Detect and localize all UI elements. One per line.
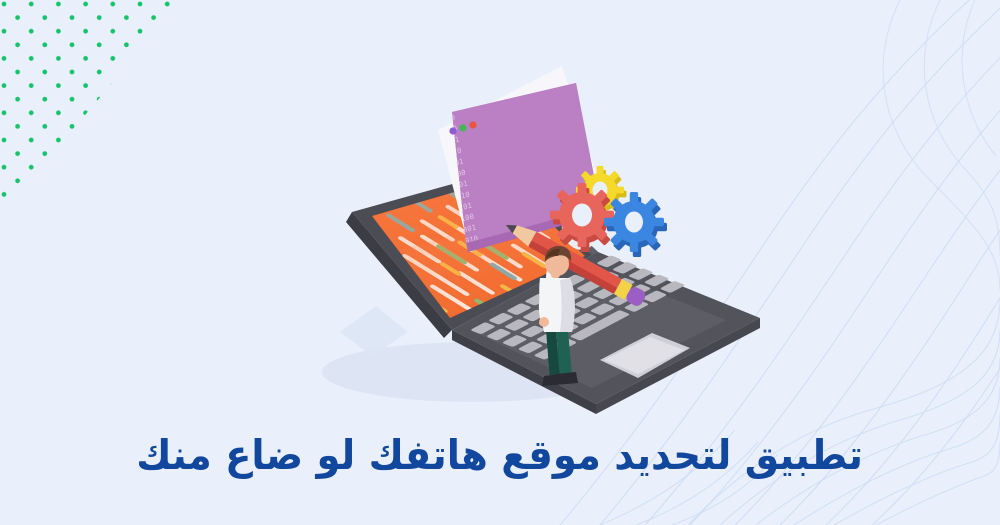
person-hand-down [539,317,549,327]
promo-banner: 01101001011100100110 1001011010010111001… [0,0,1000,525]
green-dot [459,124,466,131]
gear-blue [604,192,667,257]
person-shoe-front [554,372,578,385]
red-dot [469,121,476,128]
laptop-illustration: 01101001011100100110 1001011010010111001… [0,0,1000,525]
purple-dot [449,127,456,134]
